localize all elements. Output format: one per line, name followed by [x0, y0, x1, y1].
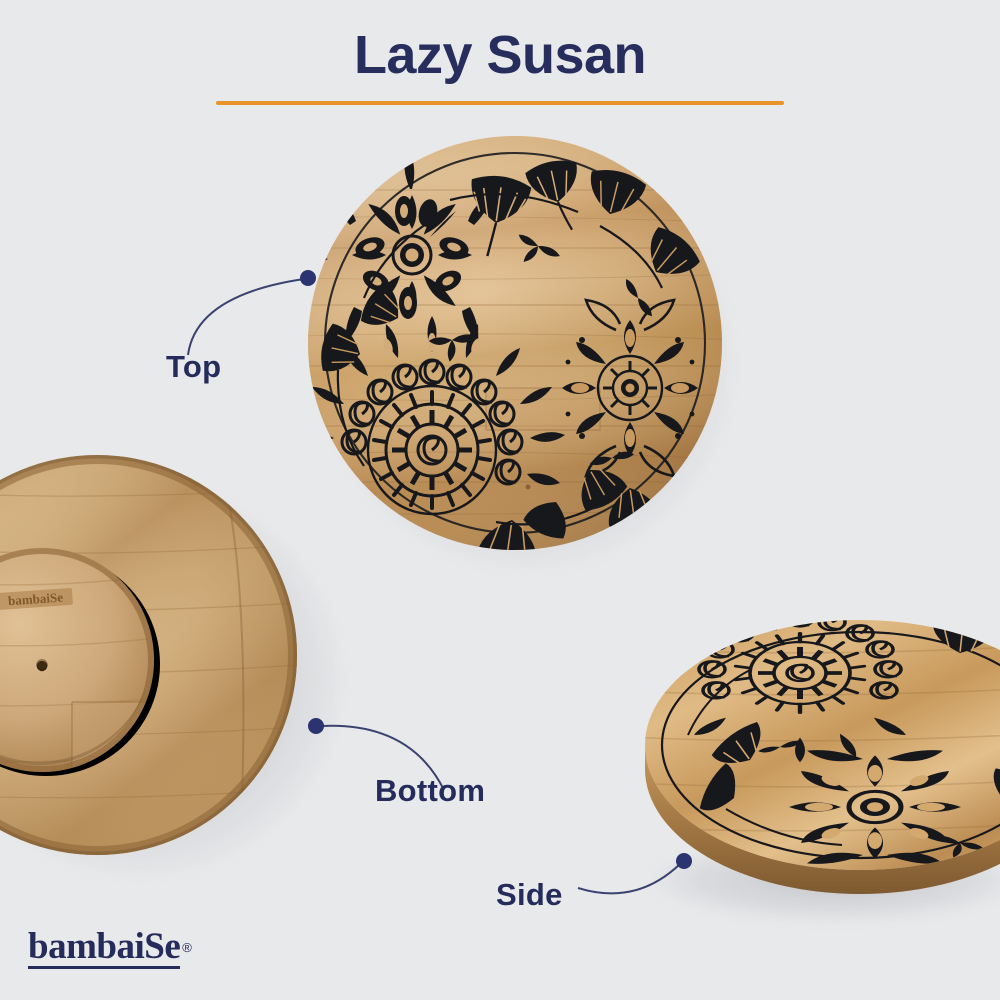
product-top-view: [300, 130, 740, 575]
product-side-view: [630, 595, 1000, 935]
callout-label-top: Top: [166, 349, 221, 385]
pivot-hole: [37, 661, 47, 671]
product-bottom-view: bambaiSe: [0, 450, 342, 900]
brand-logo: bambaiSe®: [28, 928, 192, 969]
page-title: Lazy Susan: [0, 24, 1000, 86]
brand-wordmark: bambaiSe: [28, 928, 180, 969]
registered-trademark-icon: ®: [182, 940, 192, 955]
callout-label-bottom: Bottom: [375, 773, 485, 809]
callout-label-side: Side: [496, 877, 563, 913]
poster-canvas: Lazy Susan: [0, 0, 1000, 1000]
title-underline-rule: [216, 101, 784, 105]
